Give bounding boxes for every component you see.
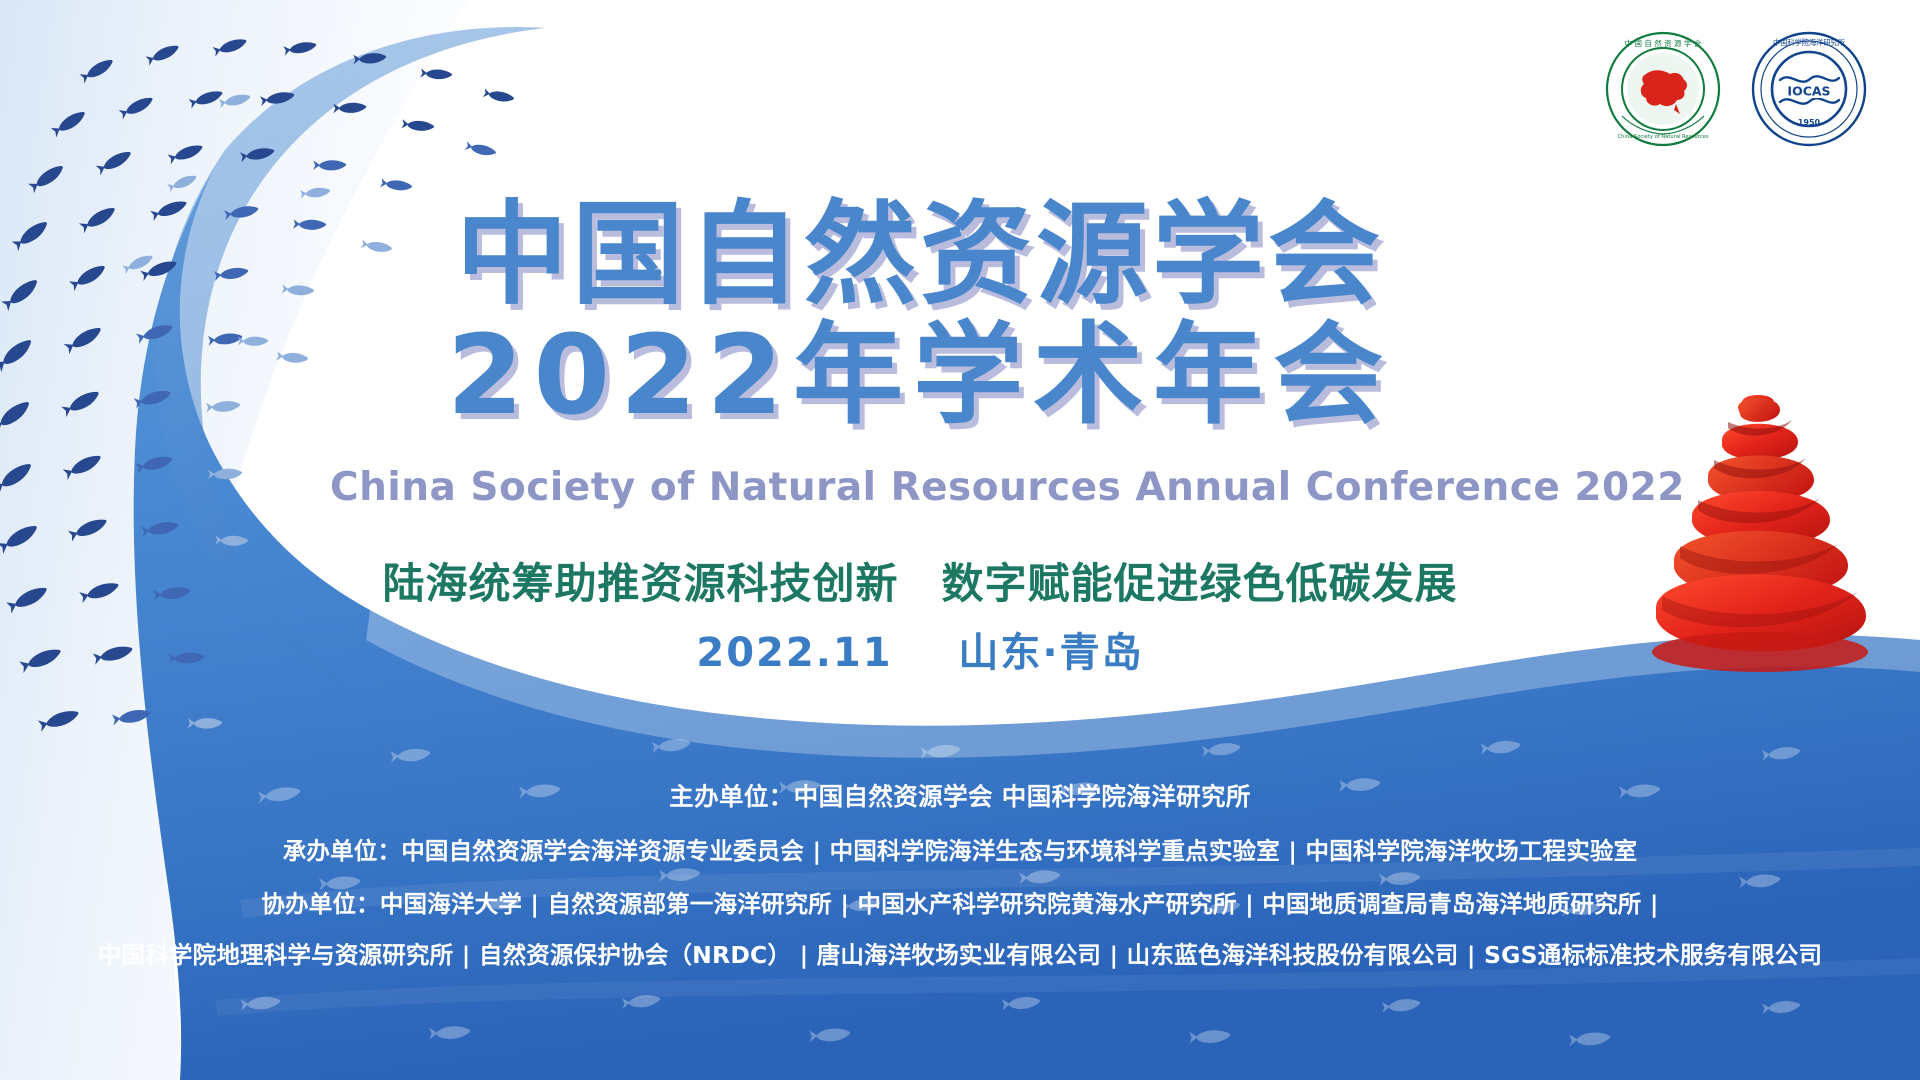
main-title: 中国自然资源学会 2022年学术年会	[330, 195, 1510, 435]
title-line-1: 中国自然资源学会	[330, 195, 1510, 316]
conference-location: 山东·青岛	[958, 630, 1143, 676]
coorganizers-line-1: 协办单位：中国海洋大学 | 自然资源部第一海洋研究所 | 中国水产科学研究院黄海…	[0, 885, 1920, 919]
english-subtitle: China Society of Natural Resources Annua…	[330, 465, 1510, 510]
date-location: 2022.11 山东·青岛	[330, 620, 1510, 678]
organizer-block: 主办单位：中国自然资源学会 中国科学院海洋研究所 承办单位：中国自然资源学会海洋…	[0, 778, 1920, 970]
conference-slogan: 陆海统筹助推资源科技创新 数字赋能促进绿色低碳发展	[300, 550, 1540, 611]
host-organizations: 主办单位：中国自然资源学会 中国科学院海洋研究所	[0, 778, 1920, 813]
poster-text-content: 中国自然资源学会 2022年学术年会 China Society of Natu…	[0, 0, 1920, 1080]
title-line-2: 2022年学术年会	[330, 316, 1510, 435]
coorganizers-line-2: 中国科学院地理科学与资源研究所 | 自然资源保护协会（NRDC） | 唐山海洋牧…	[0, 936, 1920, 970]
conference-date: 2022.11	[696, 630, 892, 676]
conference-poster: 中 国 自 然 资 源 学 会 China Society of Natural…	[0, 0, 1920, 1080]
undertaking-organizations: 承办单位：中国自然资源学会海洋资源专业委员会 | 中国科学院海洋生态与环境科学重…	[0, 832, 1920, 866]
